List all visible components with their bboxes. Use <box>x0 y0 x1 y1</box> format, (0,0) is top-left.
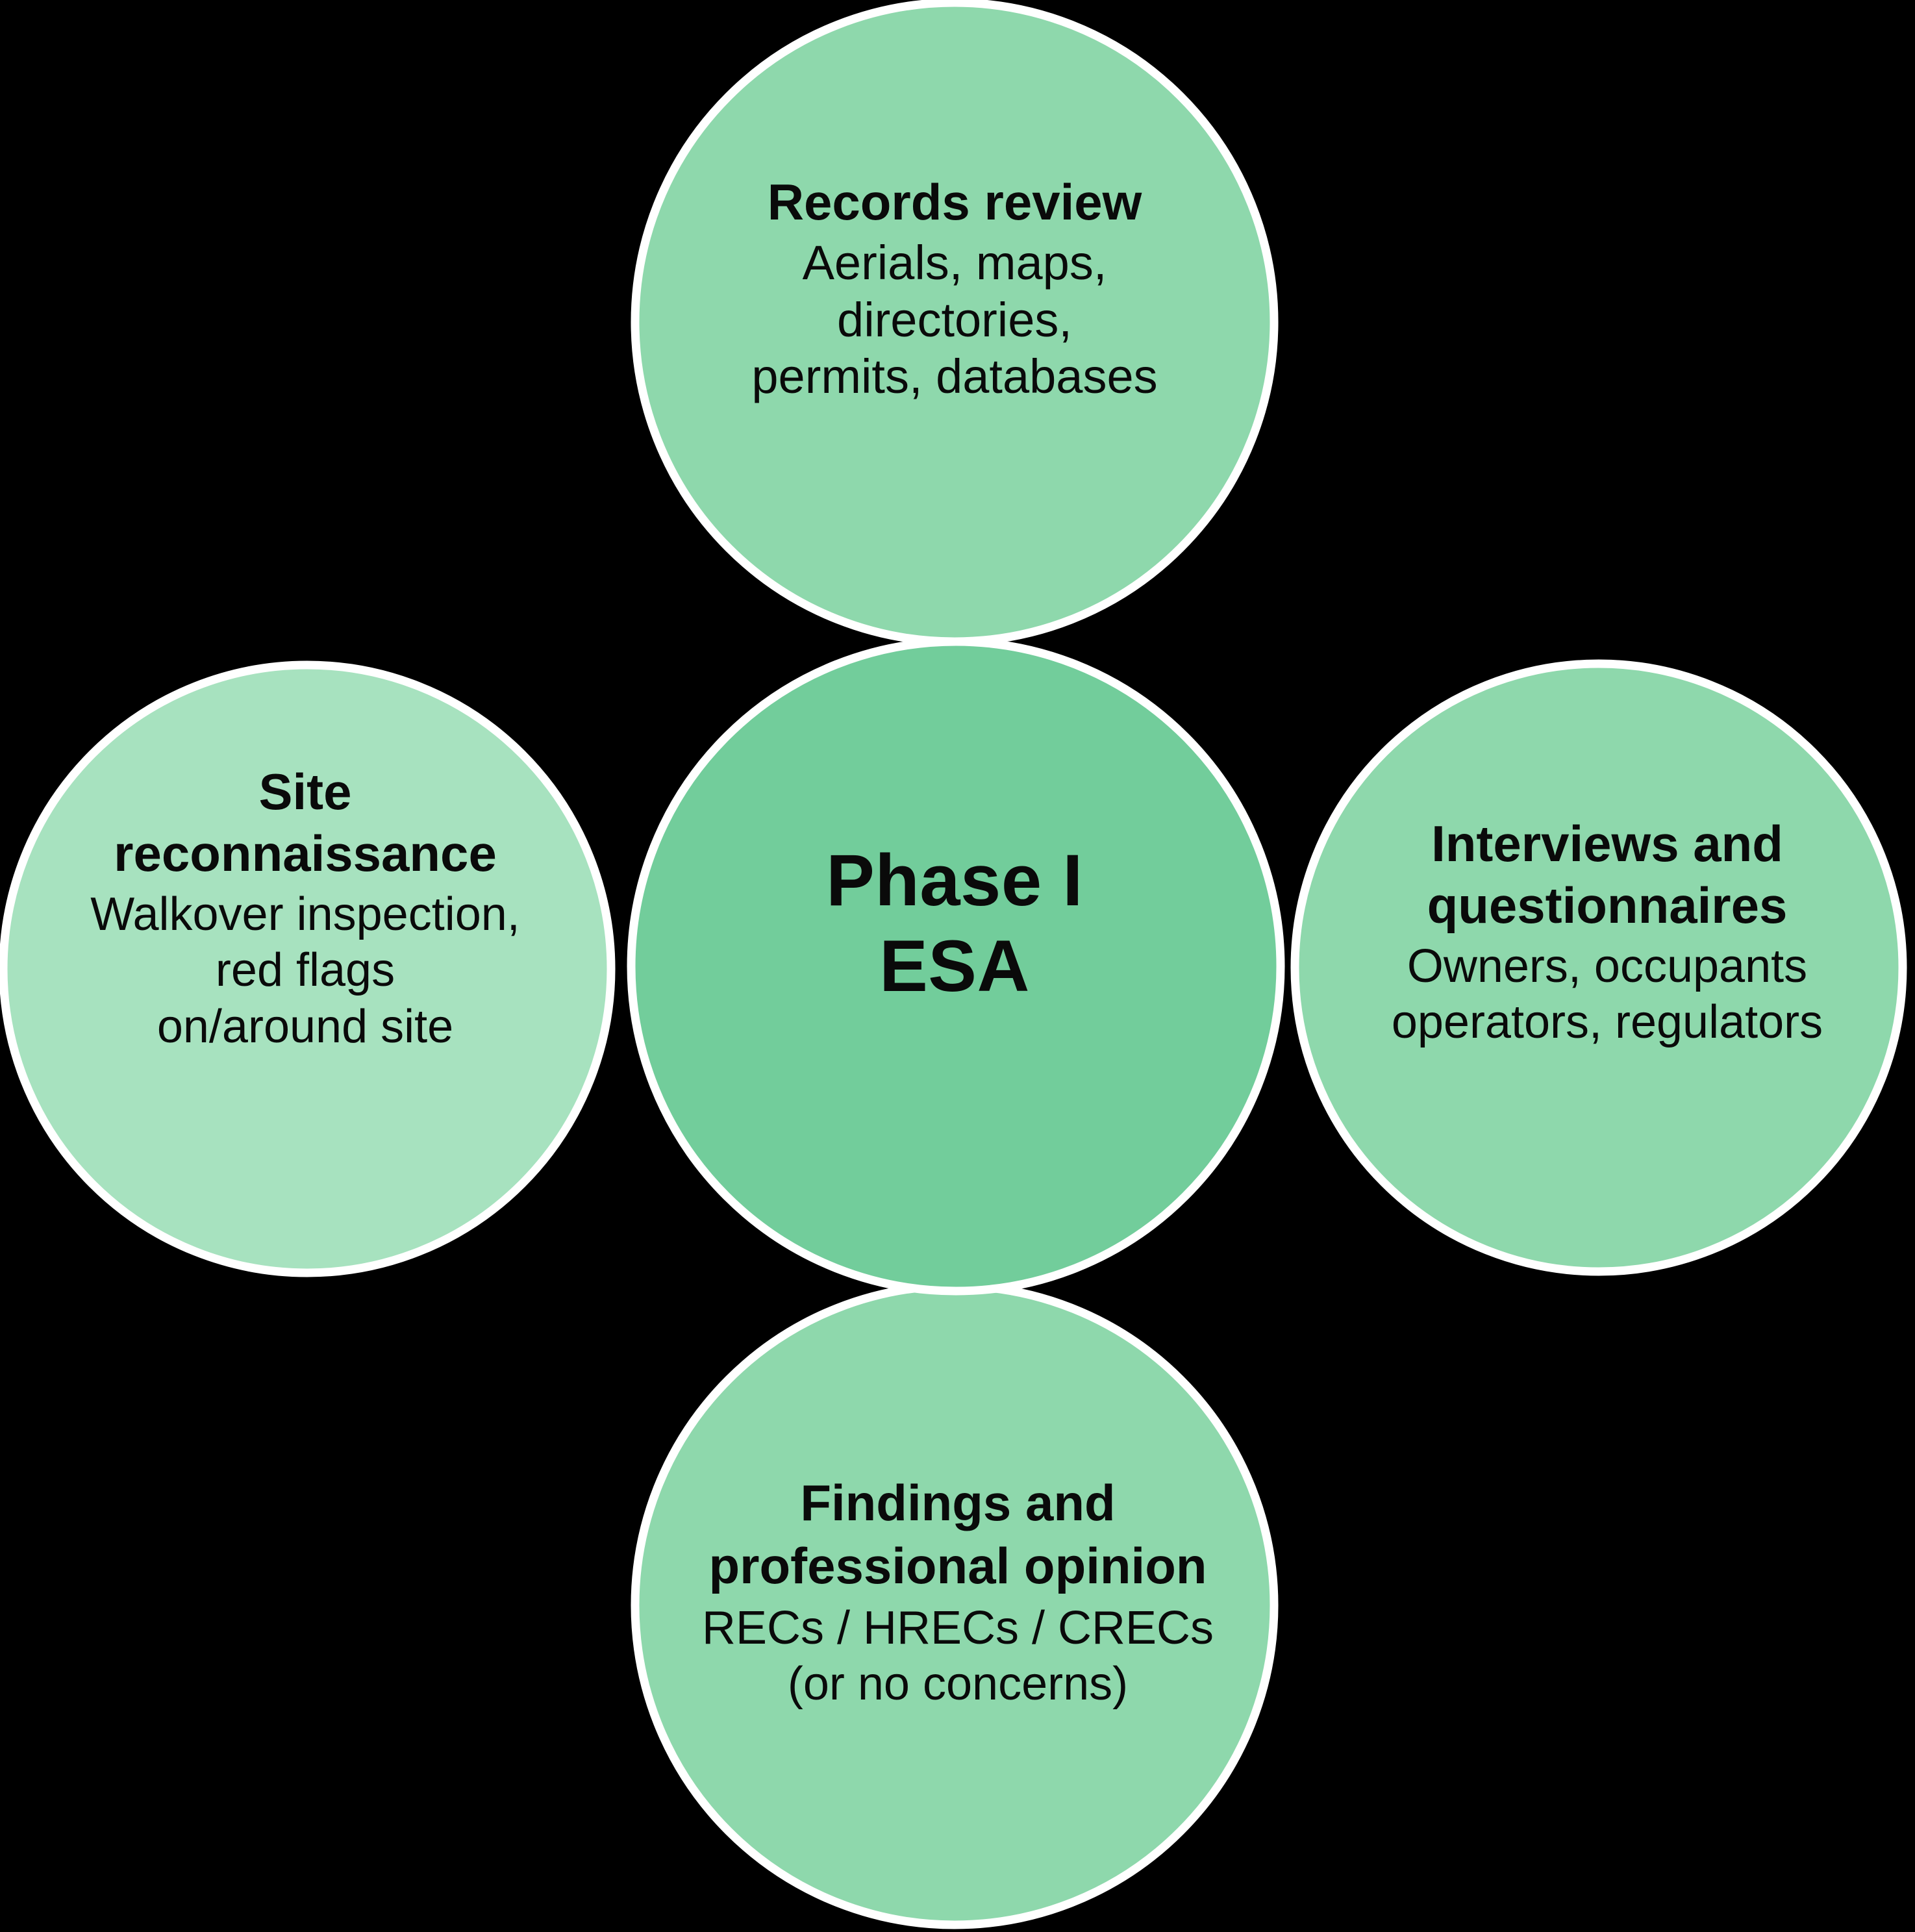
phase-i-esa-diagram: Phase I ESA Records review Aerials, maps… <box>0 0 1915 1932</box>
circle-findings-and-professional-opinion[interactable] <box>635 1286 1274 1925</box>
circle-records-review[interactable] <box>635 3 1274 642</box>
circle-site-reconnaissance[interactable] <box>3 665 611 1273</box>
venn-diagram-shapes <box>0 0 1915 1932</box>
circle-interviews-and-questionnaires[interactable] <box>1295 664 1903 1272</box>
circle-phase-i-esa[interactable] <box>631 642 1281 1291</box>
